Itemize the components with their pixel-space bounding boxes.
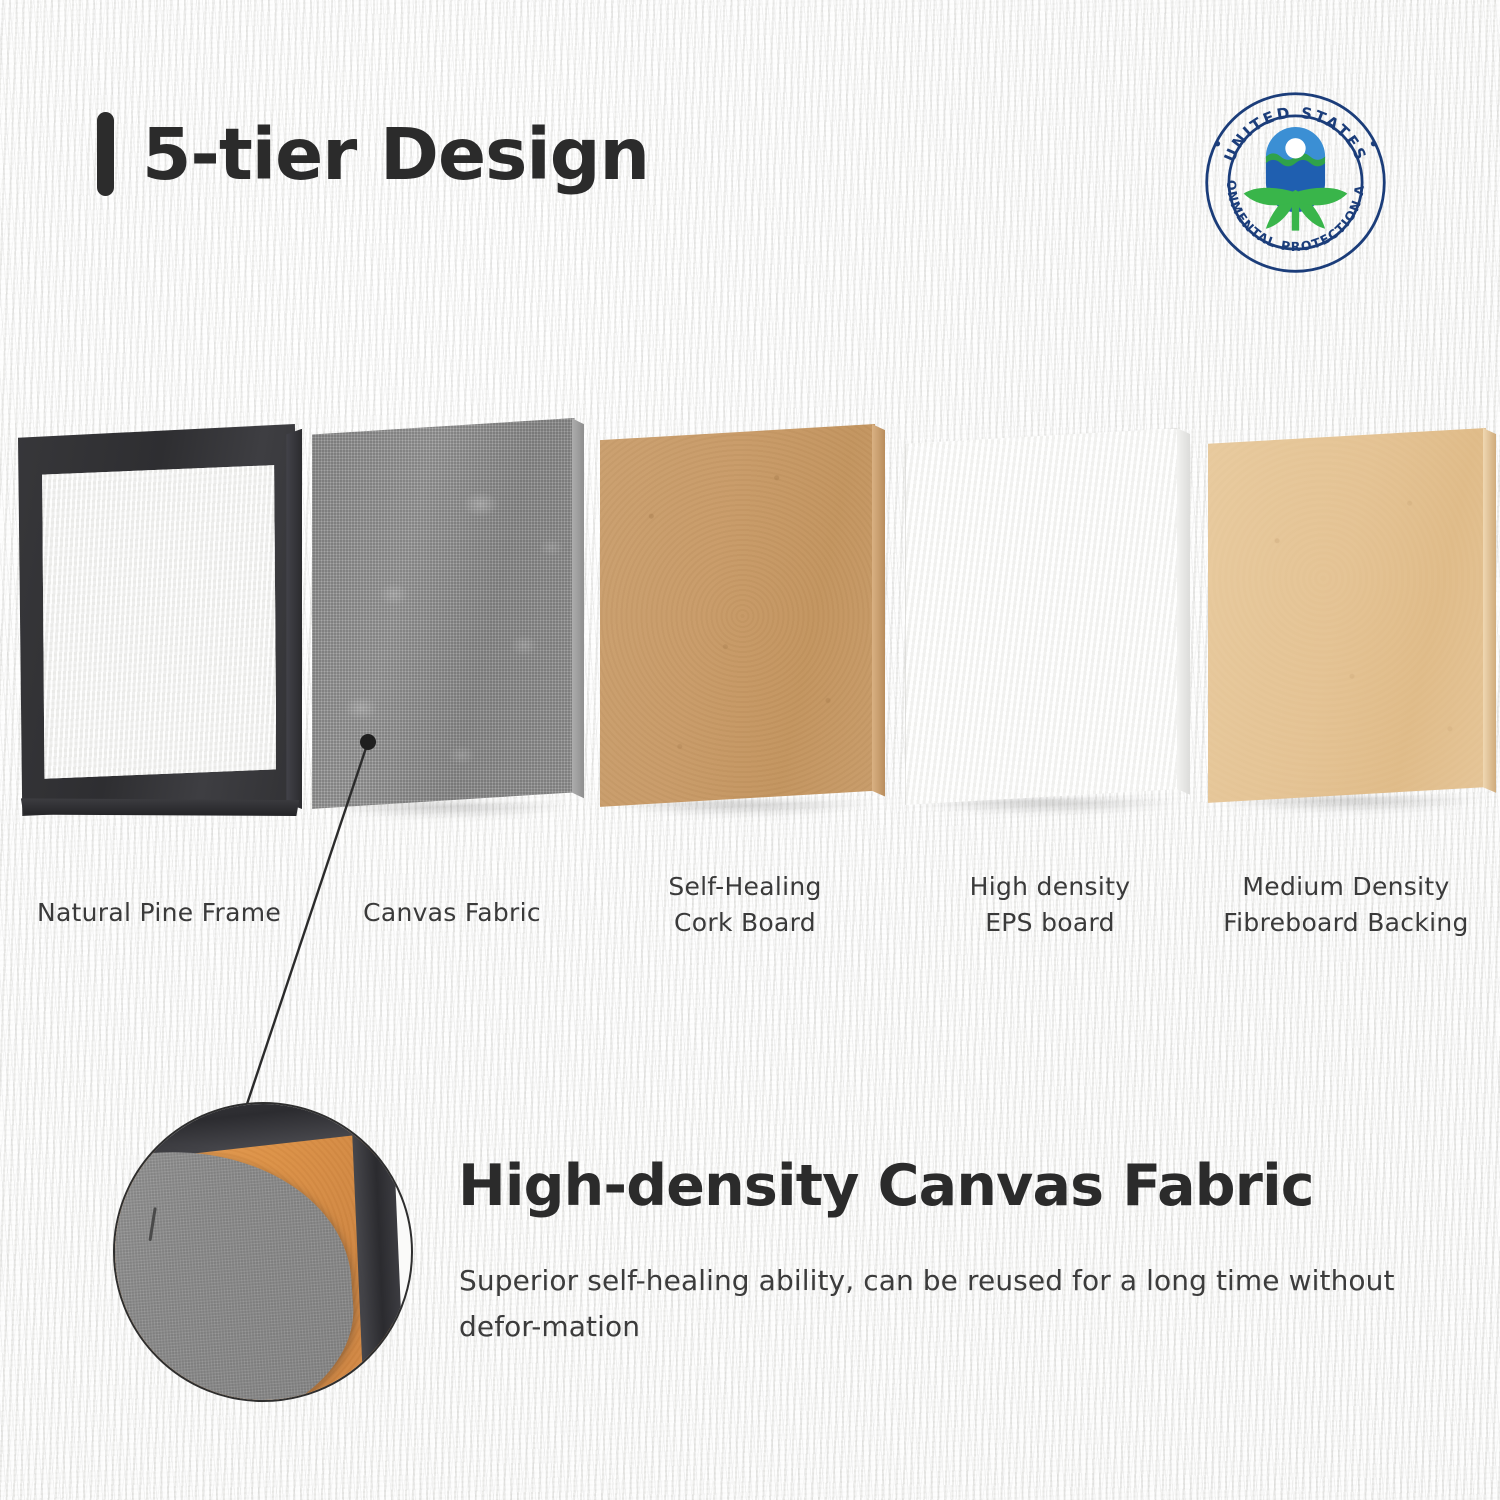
caption-canvas-fabric: Canvas Fabric [316, 895, 588, 931]
title-accent-bar [97, 112, 114, 196]
caption-line-2: Cork Board [600, 905, 890, 941]
cork-board-edge [872, 424, 885, 808]
feature-body-text: Superior self-healing ability, can be re… [459, 1258, 1449, 1350]
caption-cork-board: Self-Healing Cork Board [600, 869, 890, 940]
layer-natural-pine-frame [18, 424, 302, 816]
frame-bottom-bevel [21, 798, 299, 816]
caption-line-1: Canvas Fabric [316, 895, 588, 931]
canvas-peel-detail-circle [113, 1102, 413, 1402]
caption-line-1: Self-Healing [600, 869, 890, 905]
eps-board-face [905, 428, 1190, 806]
layer-mdf-backing [1208, 428, 1496, 804]
caption-eps-board: High density EPS board [905, 869, 1195, 940]
layer-canvas-fabric [312, 418, 584, 810]
caption-line-1: Medium Density [1196, 869, 1496, 905]
mdf-backing-face [1208, 428, 1496, 804]
page-title: 5-tier Design [142, 119, 649, 190]
layer-cork-board [600, 424, 885, 808]
canvas-fabric-edge [572, 418, 585, 810]
caption-line-1: High density [905, 869, 1195, 905]
cork-board-face [600, 424, 885, 808]
caption-mdf-backing: Medium Density Fibreboard Backing [1196, 869, 1496, 940]
frame-inner-opening [42, 465, 276, 779]
caption-line-2: Fibreboard Backing [1196, 905, 1496, 941]
detail-fabric-nick [149, 1207, 157, 1241]
epa-seal: UNITED STATES ENVIRONMENTAL PROTECTION A… [1203, 90, 1388, 275]
caption-line-1: Natural Pine Frame [14, 895, 304, 931]
mdf-backing-edge [1483, 428, 1496, 804]
infographic-page: 5-tier Design UNITED STATES ENVIRONMENTA… [0, 0, 1500, 1500]
epa-leaves-icon [1244, 188, 1348, 231]
eps-board-edge [1177, 428, 1190, 806]
header: 5-tier Design [97, 112, 649, 196]
caption-natural-pine-frame: Natural Pine Frame [14, 895, 304, 931]
feature-heading: High-density Canvas Fabric [458, 1158, 1314, 1215]
frame-right-bevel [286, 429, 302, 809]
layer-eps-board [905, 428, 1190, 806]
caption-line-2: EPS board [905, 905, 1195, 941]
canvas-fabric-face [312, 418, 584, 810]
